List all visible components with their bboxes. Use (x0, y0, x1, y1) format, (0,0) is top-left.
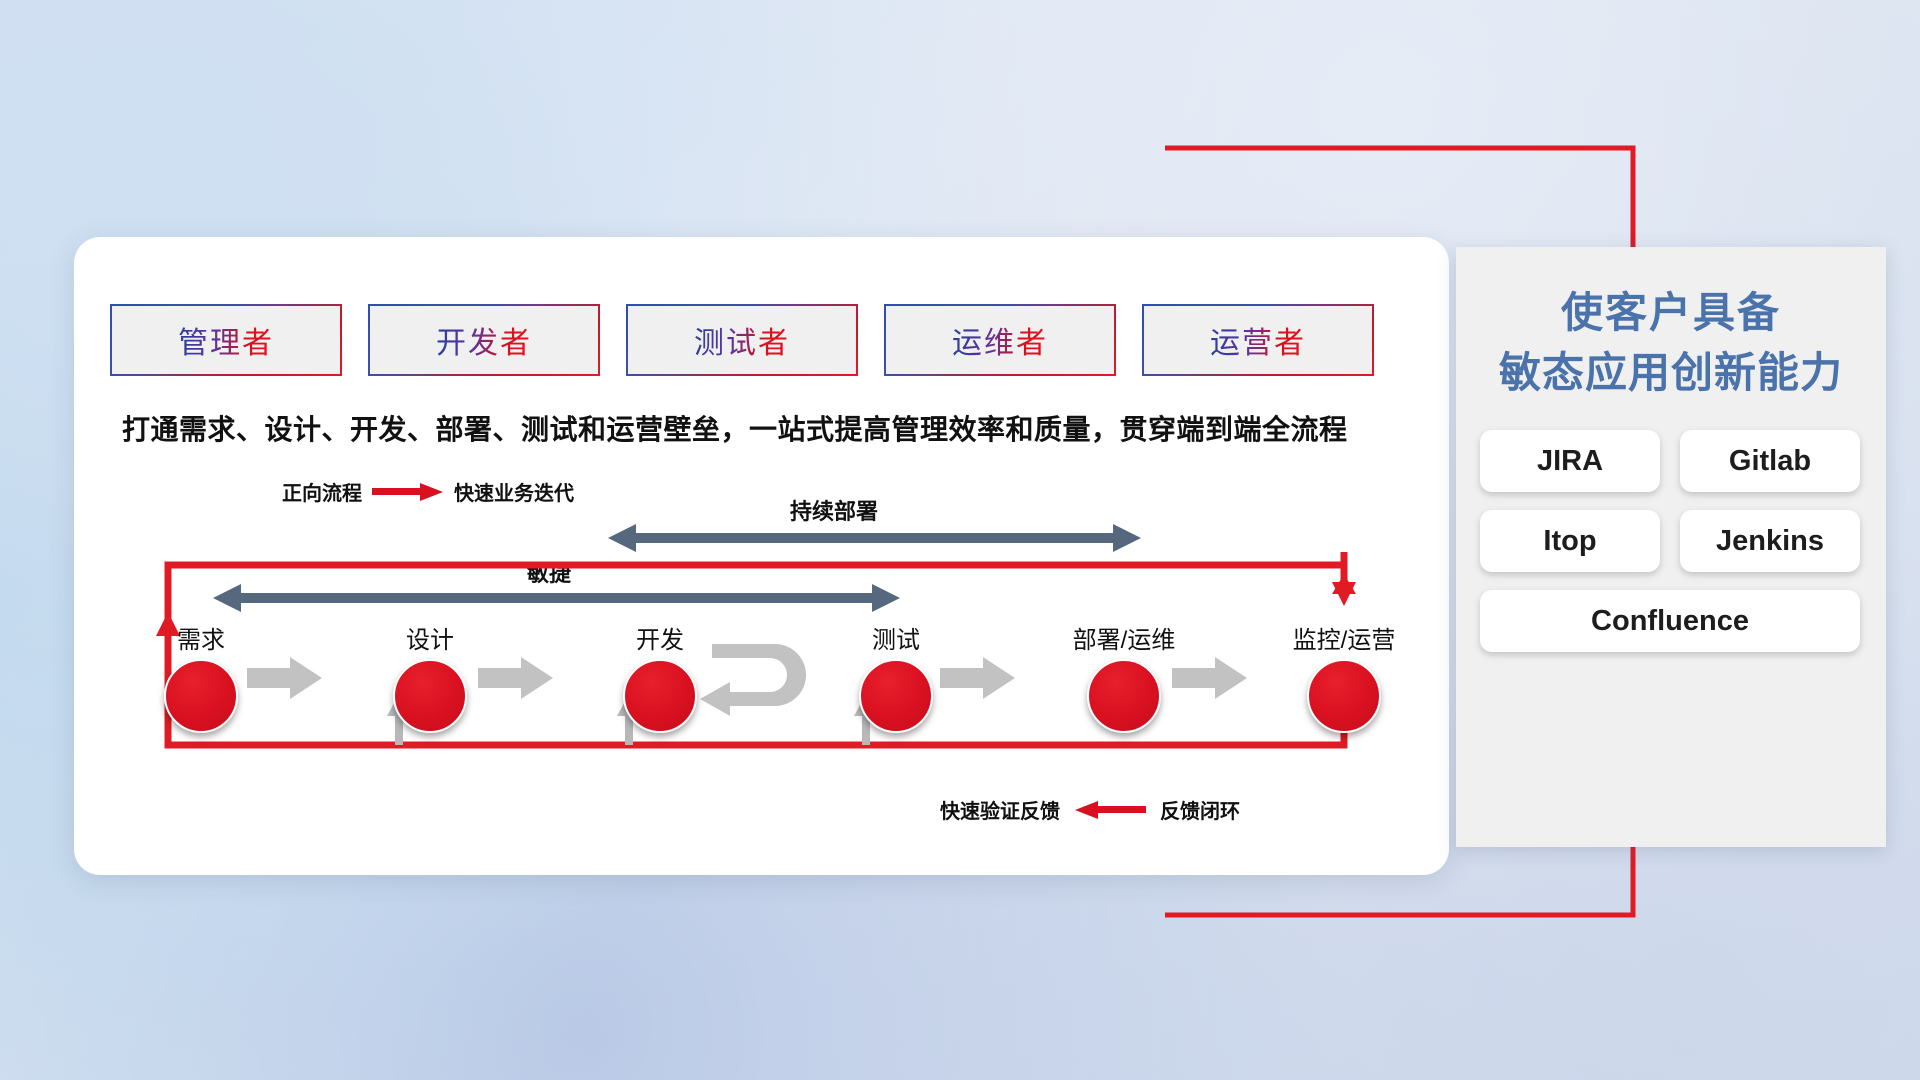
span-label-continuous-deploy: 持续部署 (790, 494, 878, 526)
tool-chip-itop[interactable]: Itop (1480, 510, 1660, 572)
headline-text: 打通需求、设计、开发、部署、测试和运营壁垒，一站式提高管理效率和质量，贯穿端到端… (122, 408, 1422, 448)
panel-title-line1: 使客户具备 (1456, 283, 1886, 343)
red-arrow-left-icon (1074, 799, 1146, 821)
process-node-circle (1087, 659, 1161, 733)
process-node-develop[interactable]: 开发 (590, 620, 730, 733)
role-label: 运维者 (952, 318, 1048, 362)
tool-chip-jenkins[interactable]: Jenkins (1680, 510, 1860, 572)
process-node-requirement[interactable]: 需求 (131, 620, 271, 733)
legend-feedback-loop: 快速验证反馈 反馈闭环 (940, 795, 1240, 824)
legend-forward-flow: 正向流程 快速业务迭代 (282, 477, 574, 506)
tool-chip-confluence[interactable]: Confluence (1480, 590, 1860, 652)
role-label: 运营者 (1210, 318, 1306, 362)
process-node-design[interactable]: 设计 (360, 620, 500, 733)
process-node-test[interactable]: 测试 (826, 620, 966, 733)
process-node-label: 部署/运维 (1034, 620, 1214, 655)
role-box-manager[interactable]: 管理者 (110, 304, 342, 376)
tool-chip-jira[interactable]: JIRA (1480, 430, 1660, 492)
process-node-circle (393, 659, 467, 733)
red-arrow-right-icon (372, 481, 444, 503)
right-value-panel: 使客户具备 敏态应用创新能力 JIRA Gitlab Itop Jenkins … (1456, 247, 1886, 847)
role-box-tester[interactable]: 测试者 (626, 304, 858, 376)
panel-title: 使客户具备 敏态应用创新能力 (1456, 283, 1886, 402)
role-box-developer[interactable]: 开发者 (368, 304, 600, 376)
panel-title-line2: 敏态应用创新能力 (1456, 343, 1886, 403)
process-node-label: 测试 (826, 620, 966, 655)
role-label: 管理者 (178, 318, 274, 362)
process-node-circle (164, 659, 238, 733)
legend-feedback-right-label: 反馈闭环 (1160, 795, 1240, 824)
process-node-label: 设计 (360, 620, 500, 655)
tool-chip-list: JIRA Gitlab Itop Jenkins Confluence (1480, 430, 1862, 652)
role-label: 开发者 (436, 318, 532, 362)
process-node-label: 开发 (590, 620, 730, 655)
role-box-list: 管理者 开发者 测试者 运维者 运营者 (110, 304, 1374, 376)
tool-chip-gitlab[interactable]: Gitlab (1680, 430, 1860, 492)
process-node-label: 需求 (131, 620, 271, 655)
process-node-circle (859, 659, 933, 733)
span-label-agile: 敏捷 (527, 556, 571, 588)
process-node-deploy-ops[interactable]: 部署/运维 (1034, 620, 1214, 733)
role-box-operations[interactable]: 运营者 (1142, 304, 1374, 376)
legend-feedback-left-label: 快速验证反馈 (940, 795, 1060, 824)
process-node-label: 监控/运营 (1254, 620, 1434, 655)
legend-forward-right-label: 快速业务迭代 (454, 477, 574, 506)
process-node-circle (623, 659, 697, 733)
process-node-monitor-operate[interactable]: 监控/运营 (1254, 620, 1434, 733)
role-box-ops[interactable]: 运维者 (884, 304, 1116, 376)
process-node-circle (1307, 659, 1381, 733)
legend-forward-left-label: 正向流程 (282, 477, 362, 506)
role-label: 测试者 (694, 318, 790, 362)
